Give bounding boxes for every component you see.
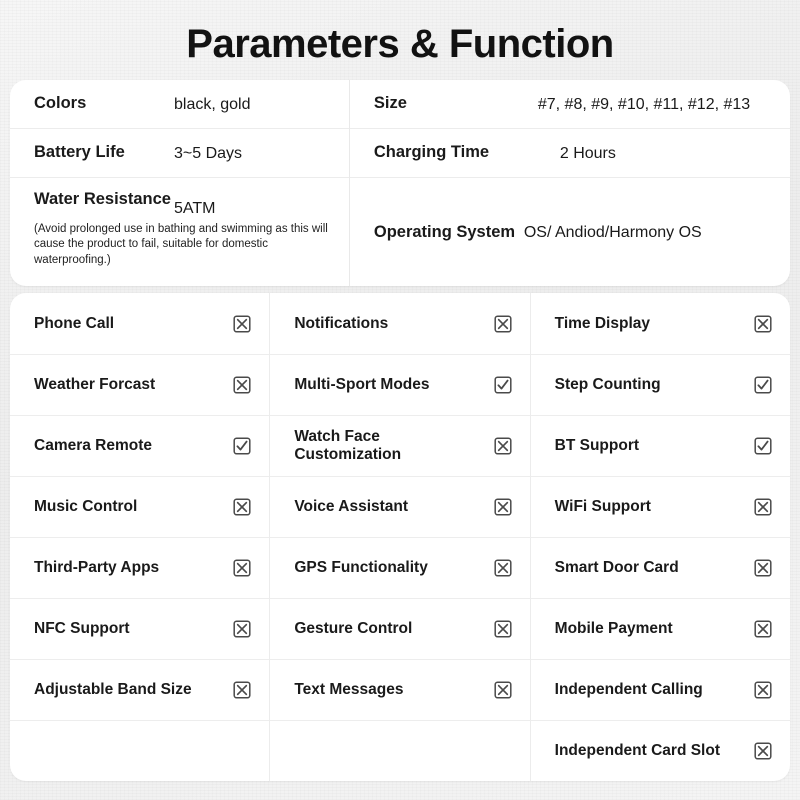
feature-label: Voice Assistant: [294, 498, 416, 516]
feature-row[interactable]: Gesture Control: [270, 598, 529, 659]
features-column-2: NotificationsMulti-Sport ModesWatch Face…: [269, 293, 529, 781]
water-resistance-note: (Avoid prolonged use in bathing and swim…: [34, 222, 334, 270]
spec-value-charging-time: 2 Hours: [524, 129, 616, 177]
specifications-table: Colors black, gold Battery Life 3~5 Days…: [10, 80, 790, 286]
checkbox-crossed-icon[interactable]: [754, 681, 772, 699]
checkbox-crossed-icon[interactable]: [494, 620, 512, 638]
feature-row[interactable]: Notifications: [270, 293, 529, 354]
feature-label: Adjustable Band Size: [34, 681, 200, 699]
feature-row[interactable]: Voice Assistant: [270, 476, 529, 537]
checkbox-crossed-icon[interactable]: [233, 559, 251, 577]
feature-label: Notifications: [294, 315, 396, 333]
feature-row[interactable]: Step Counting: [531, 354, 790, 415]
checkbox-crossed-icon[interactable]: [754, 559, 772, 577]
feature-label: Camera Remote: [34, 437, 160, 455]
feature-label: BT Support: [555, 437, 647, 455]
checkbox-crossed-icon[interactable]: [494, 437, 512, 455]
spec-row-colors: Colors black, gold: [10, 80, 349, 128]
checkbox-crossed-icon[interactable]: [233, 376, 251, 394]
feature-row-empty: [10, 720, 269, 781]
feature-row[interactable]: Independent Card Slot: [531, 720, 790, 781]
checkbox-crossed-icon[interactable]: [754, 742, 772, 760]
feature-label: Phone Call: [34, 315, 122, 333]
feature-row[interactable]: Mobile Payment: [531, 598, 790, 659]
spec-value-colors: black, gold: [174, 80, 251, 128]
water-resistance-header: Water Resistance 5ATM: [34, 190, 349, 218]
feature-row[interactable]: Adjustable Band Size: [10, 659, 269, 720]
spec-row-battery-life: Battery Life 3~5 Days: [10, 128, 349, 177]
feature-label: Text Messages: [294, 681, 411, 699]
parameters-and-function-page: Parameters & Function Colors black, gold…: [0, 0, 800, 800]
feature-label: Gesture Control: [294, 620, 420, 638]
checkbox-crossed-icon[interactable]: [233, 498, 251, 516]
spec-row-charging-time: Charging Time 2 Hours: [350, 128, 790, 177]
feature-row[interactable]: Independent Calling: [531, 659, 790, 720]
checkbox-crossed-icon[interactable]: [754, 315, 772, 333]
feature-label: Step Counting: [555, 376, 669, 394]
feature-row[interactable]: WiFi Support: [531, 476, 790, 537]
checkbox-checked-icon[interactable]: [754, 437, 772, 455]
checkbox-crossed-icon[interactable]: [233, 620, 251, 638]
feature-row[interactable]: Smart Door Card: [531, 537, 790, 598]
features-card: Phone CallWeather ForcastCamera RemoteMu…: [10, 293, 790, 781]
spec-label-battery-life: Battery Life: [34, 129, 174, 176]
spec-label-operating-system: Operating System: [374, 223, 524, 242]
feature-row[interactable]: Music Control: [10, 476, 269, 537]
feature-label: Independent Card Slot: [555, 742, 728, 760]
feature-label: Third-Party Apps: [34, 559, 167, 577]
spec-right-column: Size #7, #8, #9, #10, #11, #12, #13 Char…: [349, 80, 790, 286]
features-column-1: Phone CallWeather ForcastCamera RemoteMu…: [10, 293, 269, 781]
spec-row-operating-system: Operating System OS/ Andiod/Harmony OS: [350, 177, 790, 286]
spec-value-battery-life: 3~5 Days: [174, 129, 242, 177]
checkbox-crossed-icon[interactable]: [494, 498, 512, 516]
feature-row[interactable]: Watch Face Customization: [270, 415, 529, 476]
checkbox-crossed-icon[interactable]: [494, 559, 512, 577]
checkbox-crossed-icon[interactable]: [233, 315, 251, 333]
feature-row[interactable]: Third-Party Apps: [10, 537, 269, 598]
feature-row[interactable]: Weather Forcast: [10, 354, 269, 415]
feature-row-empty: [270, 720, 529, 781]
features-column-3: Time DisplayStep CountingBT SupportWiFi …: [530, 293, 790, 781]
spec-left-column: Colors black, gold Battery Life 3~5 Days…: [10, 80, 349, 286]
spec-label-water-resistance: Water Resistance: [34, 190, 174, 209]
feature-row[interactable]: Camera Remote: [10, 415, 269, 476]
spec-row-size: Size #7, #8, #9, #10, #11, #12, #13: [350, 80, 790, 128]
feature-row[interactable]: Text Messages: [270, 659, 529, 720]
feature-label: Mobile Payment: [555, 620, 681, 638]
checkbox-crossed-icon[interactable]: [494, 315, 512, 333]
page-title: Parameters & Function: [0, 0, 800, 80]
spec-label-colors: Colors: [34, 80, 174, 127]
feature-row[interactable]: Time Display: [531, 293, 790, 354]
feature-label: Music Control: [34, 498, 145, 516]
features-grid: Phone CallWeather ForcastCamera RemoteMu…: [10, 293, 790, 781]
checkbox-crossed-icon[interactable]: [754, 498, 772, 516]
feature-label: Watch Face Customization: [294, 428, 493, 464]
spec-label-size: Size: [374, 80, 524, 127]
checkbox-crossed-icon[interactable]: [233, 681, 251, 699]
feature-row[interactable]: Phone Call: [10, 293, 269, 354]
feature-label: WiFi Support: [555, 498, 659, 516]
checkbox-checked-icon[interactable]: [754, 376, 772, 394]
checkbox-checked-icon[interactable]: [233, 437, 251, 455]
feature-label: Weather Forcast: [34, 376, 163, 394]
checkbox-crossed-icon[interactable]: [754, 620, 772, 638]
spec-value-operating-system: OS/ Andiod/Harmony OS: [524, 223, 702, 242]
feature-label: Time Display: [555, 315, 658, 333]
feature-row[interactable]: GPS Functionality: [270, 537, 529, 598]
checkbox-crossed-icon[interactable]: [494, 681, 512, 699]
checkbox-checked-icon[interactable]: [494, 376, 512, 394]
feature-row[interactable]: BT Support: [531, 415, 790, 476]
spec-value-water-resistance: 5ATM: [174, 190, 215, 218]
feature-row[interactable]: Multi-Sport Modes: [270, 354, 529, 415]
spec-row-water-resistance: Water Resistance 5ATM (Avoid prolonged u…: [10, 177, 349, 281]
feature-label: NFC Support: [34, 620, 138, 638]
spec-value-size: #7, #8, #9, #10, #11, #12, #13: [524, 80, 750, 128]
spec-label-charging-time: Charging Time: [374, 129, 524, 176]
feature-row[interactable]: NFC Support: [10, 598, 269, 659]
feature-label: Multi-Sport Modes: [294, 376, 437, 394]
specifications-card: Colors black, gold Battery Life 3~5 Days…: [10, 80, 790, 286]
feature-label: Independent Calling: [555, 681, 711, 699]
feature-label: Smart Door Card: [555, 559, 687, 577]
feature-label: GPS Functionality: [294, 559, 435, 577]
